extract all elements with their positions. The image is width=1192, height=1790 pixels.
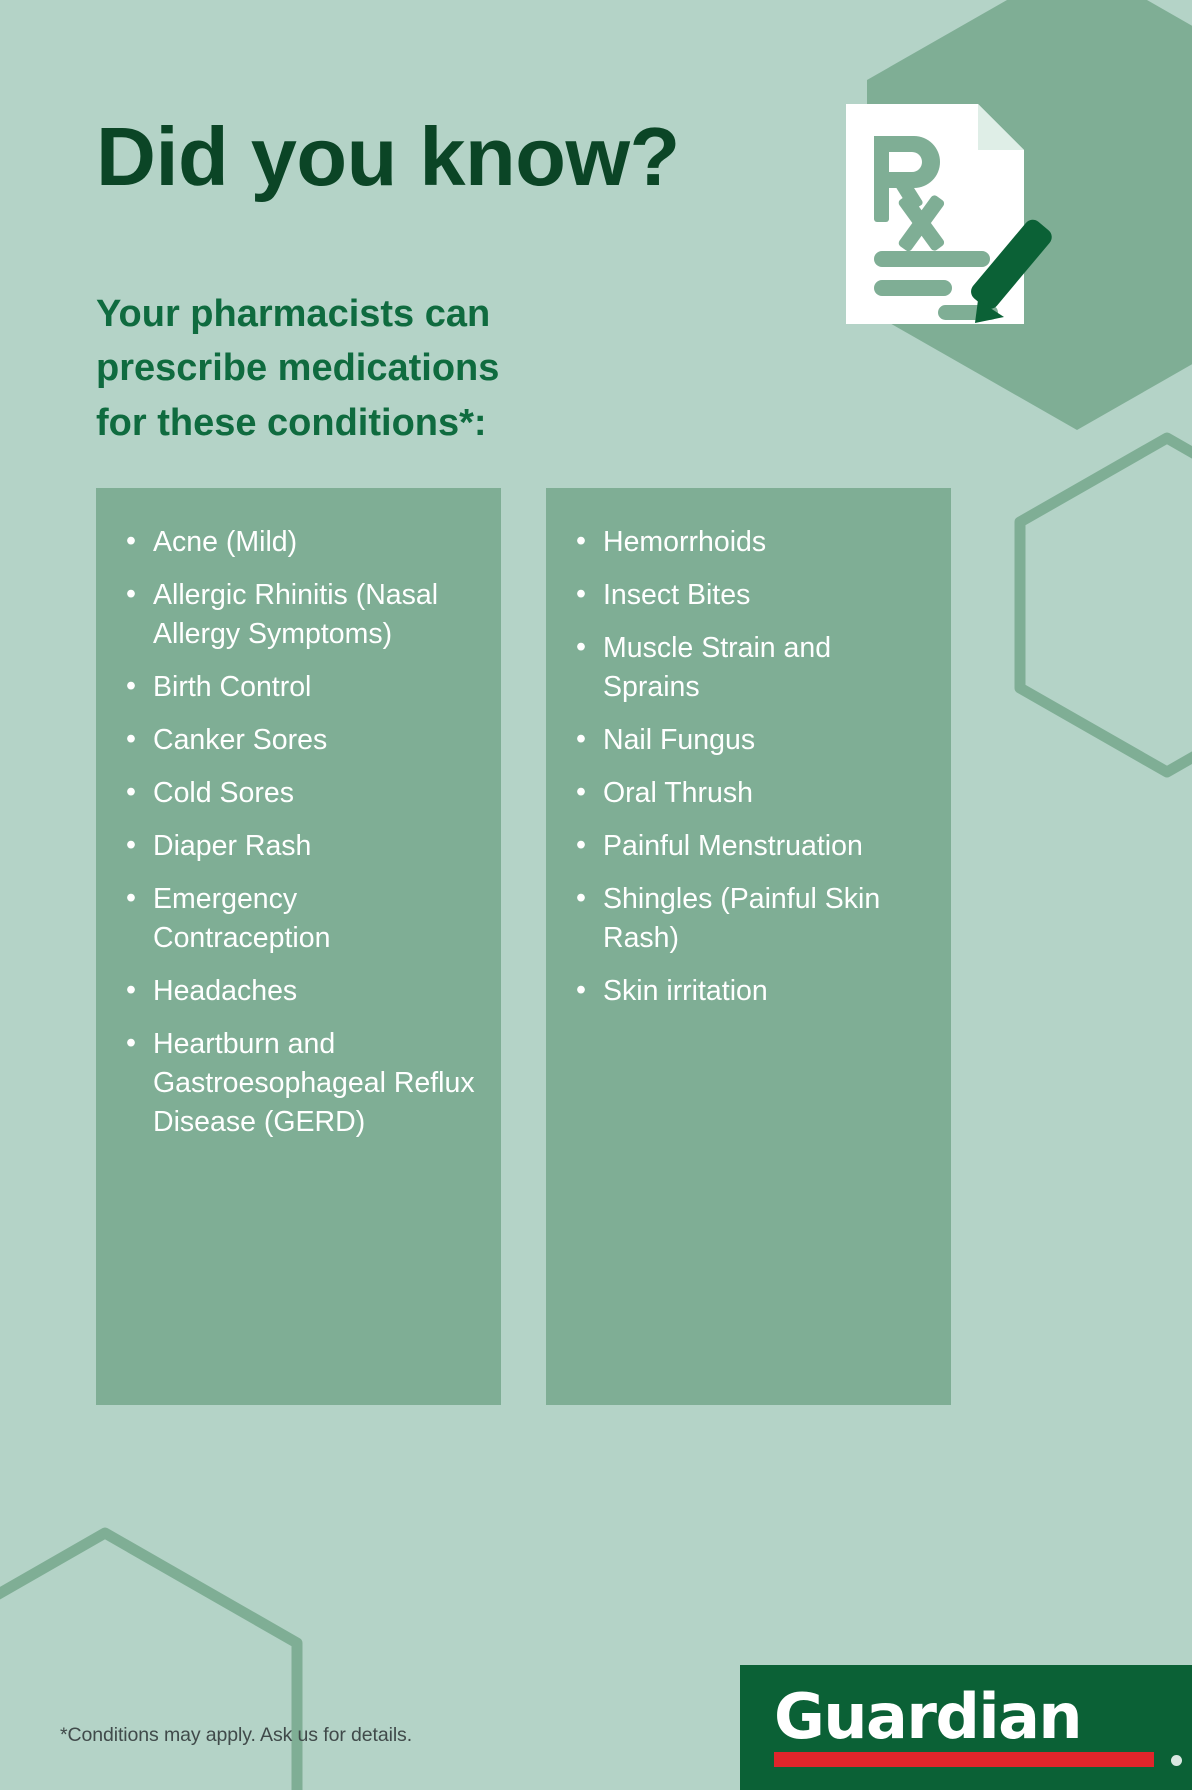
- list-item: Emergency Contraception: [118, 880, 481, 958]
- list-item: Canker Sores: [118, 721, 481, 760]
- subtitle: Your pharmacists can prescribe medicatio…: [96, 287, 616, 450]
- conditions-column-left: Acne (Mild) Allergic Rhinitis (Nasal All…: [96, 488, 501, 1405]
- subtitle-line-3: for these conditions*:: [96, 396, 616, 450]
- registered-trademark-icon: [1171, 1755, 1182, 1766]
- list-item: Painful Menstruation: [568, 827, 931, 866]
- list-item: Birth Control: [118, 668, 481, 707]
- guardian-wordmark: Guardian: [774, 1680, 1081, 1753]
- hexagon-decoration-bottom-left: [0, 1525, 305, 1790]
- list-item: Heartburn and Gastroesophageal Reflux Di…: [118, 1025, 481, 1142]
- footnote-disclaimer: *Conditions may apply. Ask us for detail…: [60, 1724, 412, 1747]
- list-item: Diaper Rash: [118, 827, 481, 866]
- conditions-list-right: Hemorrhoids Insect Bites Muscle Strain a…: [568, 523, 931, 1011]
- list-item: Allergic Rhinitis (Nasal Allergy Symptom…: [118, 576, 481, 654]
- prescription-rx-document-icon: [828, 88, 1058, 340]
- list-item: Headaches: [118, 972, 481, 1011]
- list-item: Insect Bites: [568, 576, 931, 615]
- list-item: Cold Sores: [118, 774, 481, 813]
- page-title: Did you know?: [96, 116, 736, 197]
- subtitle-line-1: Your pharmacists can: [96, 287, 616, 341]
- hexagon-decoration-right-edge: [1012, 430, 1192, 780]
- guardian-logo: Guardian: [740, 1665, 1192, 1790]
- guardian-red-bar: [774, 1752, 1154, 1767]
- list-item: Shingles (Painful Skin Rash): [568, 880, 931, 958]
- conditions-list-left: Acne (Mild) Allergic Rhinitis (Nasal All…: [118, 523, 481, 1142]
- conditions-cards: Acne (Mild) Allergic Rhinitis (Nasal All…: [96, 488, 952, 1405]
- list-item: Muscle Strain and Sprains: [568, 629, 931, 707]
- subtitle-line-2: prescribe medications: [96, 341, 616, 395]
- list-item: Oral Thrush: [568, 774, 931, 813]
- list-item: Skin irritation: [568, 972, 931, 1011]
- list-item: Nail Fungus: [568, 721, 931, 760]
- poster-canvas: Did you know? Your pharmacists can presc…: [0, 0, 1192, 1790]
- conditions-column-right: Hemorrhoids Insect Bites Muscle Strain a…: [546, 488, 951, 1405]
- list-item: Acne (Mild): [118, 523, 481, 562]
- list-item: Hemorrhoids: [568, 523, 931, 562]
